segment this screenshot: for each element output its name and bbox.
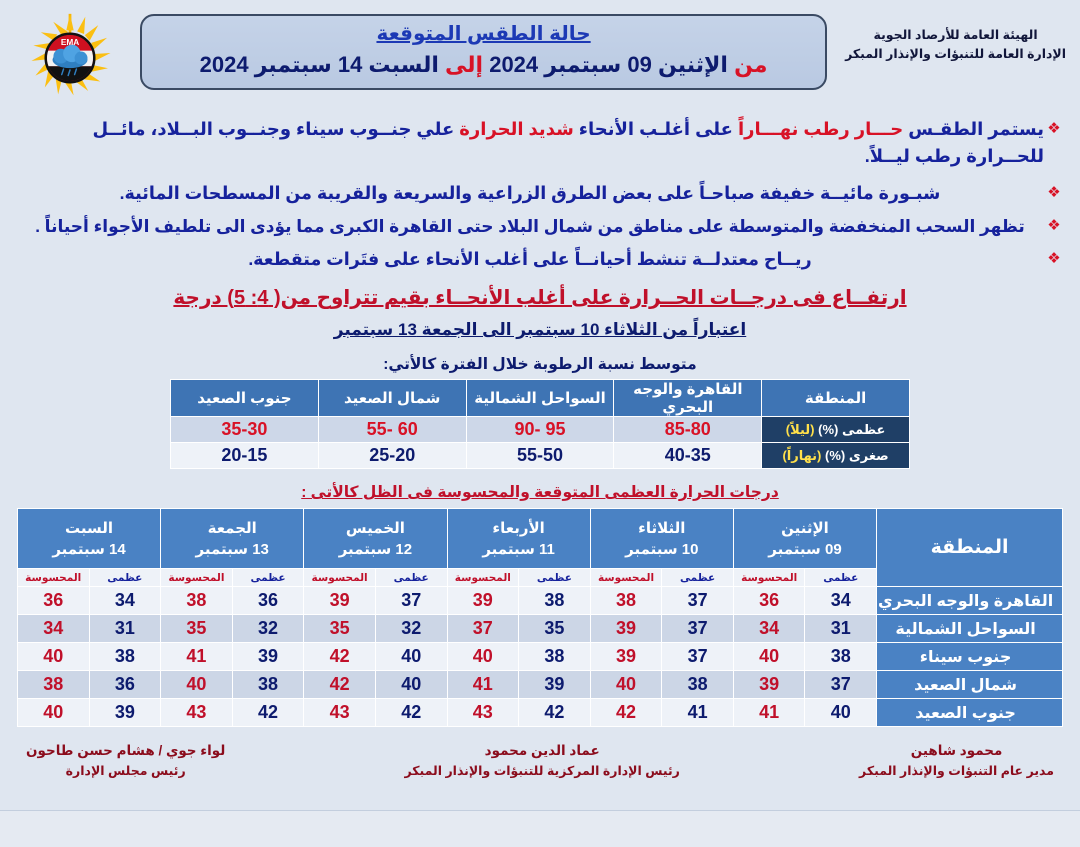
- region-north-upper-egypt: شمال الصعيد: [877, 671, 1063, 699]
- subheader-max-2: عظمى: [519, 569, 591, 587]
- footer-band: [0, 811, 1080, 847]
- humidity-max-north-upper: 60 -55: [318, 417, 466, 443]
- cell-r3-d5-feel: 38: [17, 671, 89, 699]
- cell-r3-d0-max: 37: [805, 671, 877, 699]
- subheader-feel-0: المحسوسة: [733, 569, 805, 587]
- date-to-value: السبت 14 سبتمبر 2024: [200, 52, 439, 77]
- temperature-table: المنطقة الإثنين 09 سبتمبر الثلاثاء 10 سب…: [17, 508, 1063, 727]
- humidity-caption: متوسط نسبة الرطوبة خلال الفترة كالأتي:: [0, 355, 1080, 374]
- humidity-min-north-upper: 25-20: [318, 443, 466, 469]
- day-name: الخميس: [306, 518, 444, 539]
- cell-r2-d1-feel: 39: [590, 643, 662, 671]
- cell-r2-d5-feel: 40: [17, 643, 89, 671]
- day-header-friday: الجمعة 13 سبتمبر: [161, 509, 304, 569]
- forecast-bullet-list: ❖ يستمر الطقـس حـــار رطب نهـــاراً على …: [0, 112, 1080, 273]
- cell-r1-d1-max: 37: [662, 615, 734, 643]
- cell-r0-d2-feel: 39: [447, 587, 519, 615]
- subheader-max-4: عظمى: [232, 569, 304, 587]
- cell-r4-d2-max: 42: [519, 699, 591, 727]
- cell-r1-d2-max: 35: [519, 615, 591, 643]
- cell-r4-d0-feel: 41: [733, 699, 805, 727]
- region-south-upper-egypt: جنوب الصعيد: [877, 699, 1063, 727]
- day-name: الجمعة: [163, 518, 301, 539]
- temperature-rise-notice: ارتفــاع فى درجــات الحــرارة على أغلب ا…: [0, 283, 1080, 343]
- humidity-header-north-coast: السواحل الشمالية: [466, 380, 614, 417]
- humidity-min-cairo-delta: 40-35: [614, 443, 762, 469]
- organization-line-1: الهيئة العامة للأرصاد الجوية: [845, 26, 1066, 45]
- cell-r2-d4-max: 39: [232, 643, 304, 671]
- forecast-date-range: من الإثنين 09 سبتمبر 2024 إلى السبت 14 س…: [152, 48, 815, 82]
- day-name: الأربعاء: [450, 518, 588, 539]
- subheader-feel-3: المحسوسة: [304, 569, 376, 587]
- signature-role-3: رئيس مجلس الإدارة: [26, 761, 225, 781]
- cell-r3-d2-feel: 41: [447, 671, 519, 699]
- notice-subline: اعتباراً من الثلاثاء 10 سبتمبر الى الجمع…: [0, 317, 1080, 343]
- notice-headline: ارتفــاع فى درجــات الحــرارة على أغلب ا…: [173, 283, 906, 313]
- humidity-row-label-min-note: (نهاراً): [782, 448, 821, 463]
- organization-block: الهيئة العامة للأرصاد الجوية الإدارة الع…: [845, 10, 1066, 64]
- diamond-bullet-icon: ❖: [1044, 213, 1064, 239]
- humidity-row-label-max: عظمى (%) (ليلاً): [762, 417, 910, 443]
- day-date: 10 سبتمبر: [593, 539, 731, 560]
- cell-r1-d4-max: 32: [232, 615, 304, 643]
- region-cairo-delta: القاهرة والوجه البحري: [877, 587, 1063, 615]
- humidity-min-north-coast: 55-50: [466, 443, 614, 469]
- forecast-page: الهيئة العامة للأرصاد الجوية الإدارة الع…: [0, 0, 1080, 847]
- table-row: شمال الصعيد 37 39 38 40 39 41 40 42 38 4…: [17, 671, 1062, 699]
- bullet-1-seg-3: على أغلـب الأنحاء: [574, 119, 738, 139]
- organization-line-2: الإدارة العامة للتنبؤات والإنذار المبكر: [845, 45, 1066, 64]
- day-date: 14 سبتمبر: [20, 539, 158, 560]
- table-row: جنوب الصعيد 40 41 41 42 42 43 42 43 42 4…: [17, 699, 1062, 727]
- cell-r2-d3-feel: 42: [304, 643, 376, 671]
- table-header-row-days: المنطقة الإثنين 09 سبتمبر الثلاثاء 10 سب…: [17, 509, 1062, 569]
- cell-r1-d0-max: 31: [805, 615, 877, 643]
- cell-r4-d2-feel: 43: [447, 699, 519, 727]
- temperature-table-wrap: المنطقة الإثنين 09 سبتمبر الثلاثاء 10 سب…: [0, 508, 1080, 727]
- table-row: السواحل الشمالية 31 34 37 39 35 37 32 35…: [17, 615, 1062, 643]
- cell-r3-d2-max: 39: [519, 671, 591, 699]
- subheader-max-1: عظمى: [662, 569, 734, 587]
- subheader-feel-2: المحسوسة: [447, 569, 519, 587]
- cell-r4-d4-feel: 43: [161, 699, 233, 727]
- region-north-coast: السواحل الشمالية: [877, 615, 1063, 643]
- humidity-row-label-min-main: صغرى (%): [825, 448, 889, 463]
- signature-central-head: عماد الدين محمود رئيس الإدارة المركزية ل…: [404, 741, 679, 781]
- day-header-saturday: السبت 14 سبتمبر: [17, 509, 160, 569]
- day-header-wednesday: الأربعاء 11 سبتمبر: [447, 509, 590, 569]
- bullet-1-seg-4: شديد الحرارة: [459, 119, 574, 139]
- region-south-sinai: جنوب سيناء: [877, 643, 1063, 671]
- cell-r4-d5-max: 39: [89, 699, 161, 727]
- cell-r1-d4-feel: 35: [161, 615, 233, 643]
- logo-text: EMA: [61, 38, 79, 47]
- cell-r2-d5-max: 38: [89, 643, 161, 671]
- signature-name-1: محمود شاهين: [859, 741, 1054, 761]
- humidity-max-north-coast: 95 -90: [466, 417, 614, 443]
- day-name: الإثنين: [736, 518, 874, 539]
- subheader-max-3: عظمى: [375, 569, 447, 587]
- cell-r2-d1-max: 37: [662, 643, 734, 671]
- humidity-max-cairo-delta: 85-80: [614, 417, 762, 443]
- humidity-header-south-upper: جنوب الصعيد: [171, 380, 319, 417]
- humidity-max-south-upper: 35-30: [171, 417, 319, 443]
- cell-r0-d3-max: 37: [375, 587, 447, 615]
- list-item: ❖ يستمر الطقـس حـــار رطب نهـــاراً على …: [16, 116, 1064, 170]
- list-item: ❖ شبـورة مائيــة خفيفة صباحـاً على بعض ا…: [16, 180, 1064, 207]
- cell-r3-d3-feel: 42: [304, 671, 376, 699]
- subheader-max-5: عظمى: [89, 569, 161, 587]
- cell-r1-d5-feel: 34: [17, 615, 89, 643]
- signature-role-2: رئيس الإدارة المركزية للتنبؤات والإنذار …: [404, 761, 679, 781]
- temperature-caption: درجات الحرارة العظمى المتوقعة والمحسوسة …: [0, 483, 1080, 502]
- cell-r3-d3-max: 40: [375, 671, 447, 699]
- cell-r0-d3-feel: 39: [304, 587, 376, 615]
- humidity-row-label-max-note: (ليلاً): [786, 422, 815, 437]
- list-item: ❖ تظهر السحب المنخفضة والمتوسطة على مناط…: [16, 213, 1064, 240]
- bullet-text-1: يستمر الطقـس حـــار رطب نهـــاراً على أغ…: [34, 116, 1044, 170]
- cell-r4-d4-max: 42: [232, 699, 304, 727]
- day-name: السبت: [20, 518, 158, 539]
- bullet-text-4: ريــاح معتدلــة تنشط أحيانــاً على أغلب …: [16, 246, 1044, 273]
- cell-r4-d1-max: 41: [662, 699, 734, 727]
- cell-r1-d3-feel: 35: [304, 615, 376, 643]
- cell-r0-d2-max: 38: [519, 587, 591, 615]
- day-date: 11 سبتمبر: [450, 539, 588, 560]
- date-from-label: من: [734, 52, 767, 77]
- signature-name-3: لواء جوي / هشام حسن طاحون: [26, 741, 225, 761]
- day-date: 09 سبتمبر: [736, 539, 874, 560]
- humidity-table-wrap: المنطقة القاهرة والوجه البحري السواحل ال…: [0, 379, 1080, 469]
- signature-chairman: لواء جوي / هشام حسن طاحون رئيس مجلس الإد…: [26, 741, 225, 781]
- subheader-feel-5: المحسوسة: [17, 569, 89, 587]
- diamond-bullet-icon: ❖: [1044, 180, 1064, 206]
- cell-r1-d1-feel: 39: [590, 615, 662, 643]
- cell-r4-d1-feel: 42: [590, 699, 662, 727]
- title-box: حالة الطقس المتوقعة من الإثنين 09 سبتمبر…: [140, 14, 827, 90]
- cell-r0-d0-feel: 36: [733, 587, 805, 615]
- cell-r0-d4-feel: 38: [161, 587, 233, 615]
- ema-logo-icon: EMA: [24, 12, 116, 104]
- day-header-thursday: الخميس 12 سبتمبر: [304, 509, 447, 569]
- cell-r2-d2-feel: 40: [447, 643, 519, 671]
- signature-director-general: محمود شاهين مدير عام التنبؤات والإنذار ا…: [859, 741, 1054, 781]
- humidity-header-region: المنطقة: [762, 380, 910, 417]
- signature-role-1: مدير عام التنبؤات والإنذار المبكر: [859, 761, 1054, 781]
- table-header-row: المنطقة القاهرة والوجه البحري السواحل ال…: [171, 380, 910, 417]
- cell-r3-d1-max: 38: [662, 671, 734, 699]
- date-from-value: الإثنين 09 سبتمبر 2024: [489, 52, 728, 77]
- cell-r0-d0-max: 34: [805, 587, 877, 615]
- date-to-label: إلى: [445, 52, 483, 77]
- humidity-min-south-upper: 20-15: [171, 443, 319, 469]
- subheader-feel-1: المحسوسة: [590, 569, 662, 587]
- cell-r1-d2-feel: 37: [447, 615, 519, 643]
- table-row: صغرى (%) (نهاراً) 40-35 55-50 25-20 20-1…: [171, 443, 910, 469]
- cell-r3-d5-max: 36: [89, 671, 161, 699]
- cell-r0-d1-max: 37: [662, 587, 734, 615]
- cell-r3-d1-feel: 40: [590, 671, 662, 699]
- table-row: القاهرة والوجه البحري 34 36 37 38 38 39 …: [17, 587, 1062, 615]
- cell-r2-d3-max: 40: [375, 643, 447, 671]
- cell-r1-d5-max: 31: [89, 615, 161, 643]
- cell-r3-d4-max: 38: [232, 671, 304, 699]
- diamond-bullet-icon: ❖: [1044, 246, 1064, 272]
- table-row: عظمى (%) (ليلاً) 85-80 95 -90 60 -55 35-…: [171, 417, 910, 443]
- day-header-monday: الإثنين 09 سبتمبر: [733, 509, 876, 569]
- cell-r4-d3-feel: 43: [304, 699, 376, 727]
- day-date: 13 سبتمبر: [163, 539, 301, 560]
- humidity-row-label-min: صغرى (%) (نهاراً): [762, 443, 910, 469]
- page-footer: محمود شاهين مدير عام التنبؤات والإنذار ا…: [0, 727, 1080, 781]
- bullet-1-seg-2: حـــار رطب نهـــاراً: [738, 119, 903, 139]
- logo-container: EMA: [14, 10, 126, 106]
- cell-r2-d4-feel: 41: [161, 643, 233, 671]
- cell-r0-d4-max: 36: [232, 587, 304, 615]
- cell-r2-d0-max: 38: [805, 643, 877, 671]
- day-name: الثلاثاء: [593, 518, 731, 539]
- cell-r2-d0-feel: 40: [733, 643, 805, 671]
- signature-name-2: عماد الدين محمود: [404, 741, 679, 761]
- subheader-max-0: عظمى: [805, 569, 877, 587]
- day-header-tuesday: الثلاثاء 10 سبتمبر: [590, 509, 733, 569]
- cell-r0-d5-feel: 36: [17, 587, 89, 615]
- bullet-1-seg-1: يستمر الطقـس: [903, 119, 1044, 139]
- cell-r4-d3-max: 42: [375, 699, 447, 727]
- humidity-header-north-upper: شمال الصعيد: [318, 380, 466, 417]
- day-date: 12 سبتمبر: [306, 539, 444, 560]
- bullet-text-2: شبـورة مائيــة خفيفة صباحـاً على بعض الط…: [16, 180, 1044, 207]
- cell-r1-d3-max: 32: [375, 615, 447, 643]
- table-row: جنوب سيناء 38 40 37 39 38 40 40 42 39 41…: [17, 643, 1062, 671]
- cell-r3-d4-feel: 40: [161, 671, 233, 699]
- cell-r2-d2-max: 38: [519, 643, 591, 671]
- diamond-bullet-icon: ❖: [1044, 116, 1064, 142]
- humidity-header-cairo-delta: القاهرة والوجه البحري: [614, 380, 762, 417]
- cell-r4-d5-feel: 40: [17, 699, 89, 727]
- page-title: حالة الطقس المتوقعة: [152, 20, 815, 48]
- cell-r4-d0-max: 40: [805, 699, 877, 727]
- humidity-row-label-max-main: عظمى (%): [818, 422, 885, 437]
- cell-r0-d1-feel: 38: [590, 587, 662, 615]
- subheader-feel-4: المحسوسة: [161, 569, 233, 587]
- bullet-text-3: تظهر السحب المنخفضة والمتوسطة على مناطق …: [16, 213, 1044, 240]
- humidity-table: المنطقة القاهرة والوجه البحري السواحل ال…: [170, 379, 910, 469]
- page-header: الهيئة العامة للأرصاد الجوية الإدارة الع…: [0, 0, 1080, 112]
- cell-r3-d0-feel: 39: [733, 671, 805, 699]
- list-item: ❖ ريــاح معتدلــة تنشط أحيانــاً على أغل…: [16, 246, 1064, 273]
- cell-r1-d0-feel: 34: [733, 615, 805, 643]
- cell-r0-d5-max: 34: [89, 587, 161, 615]
- temperature-header-region: المنطقة: [877, 509, 1063, 587]
